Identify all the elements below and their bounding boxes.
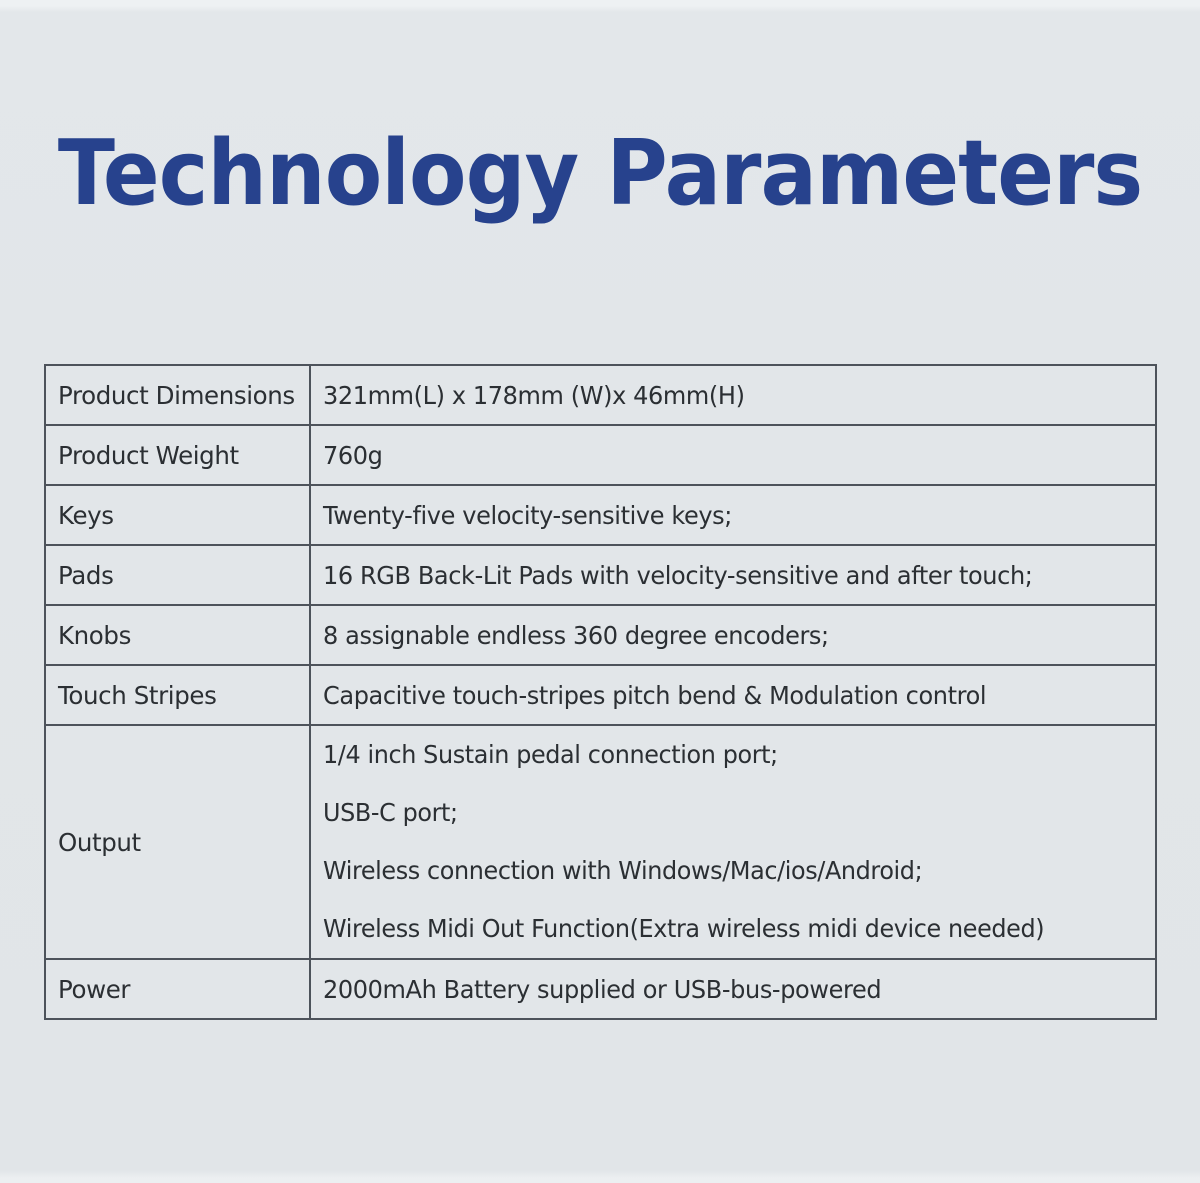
value-text-line: Wireless Midi Out Function(Extra wireles…: [323, 900, 1118, 958]
row-value-product-weight: 760g: [310, 425, 1156, 485]
row-label-pads: Pads: [45, 545, 310, 605]
value-text-line: USB-C port;: [323, 784, 1118, 842]
row-label-product-dimensions: Product Dimensions: [45, 365, 310, 425]
row-label-output: Output: [45, 725, 310, 959]
table-row: Keys Twenty-five velocity-sensitive keys…: [45, 485, 1156, 545]
table-body: Product Dimensions 321mm(L) x 178mm (W)x…: [45, 365, 1156, 1019]
value-text: 2000mAh Battery supplied or USB-bus-powe…: [323, 975, 1122, 1004]
label-text: Power: [58, 975, 304, 1004]
value-text: 16 RGB Back-Lit Pads with velocity-sensi…: [323, 561, 1122, 590]
row-label-keys: Keys: [45, 485, 310, 545]
row-value-keys: Twenty-five velocity-sensitive keys;: [310, 485, 1156, 545]
row-label-touch-stripes: Touch Stripes: [45, 665, 310, 725]
page-title-container: Technology Parameters: [0, 128, 1200, 220]
row-value-product-dimensions: 321mm(L) x 178mm (W)x 46mm(H): [310, 365, 1156, 425]
label-text: Touch Stripes: [58, 681, 304, 710]
row-label-power: Power: [45, 959, 310, 1019]
table-row: Product Weight 760g: [45, 425, 1156, 485]
label-text: Knobs: [58, 621, 304, 650]
value-text: 321mm(L) x 178mm (W)x 46mm(H): [323, 381, 1122, 410]
row-label-knobs: Knobs: [45, 605, 310, 665]
value-text-line: Wireless connection with Windows/Mac/ios…: [323, 842, 1118, 900]
value-text-line: 1/4 inch Sustain pedal connection port;: [323, 726, 1118, 784]
value-text: Twenty-five velocity-sensitive keys;: [323, 501, 1122, 530]
label-text: Product Dimensions: [58, 381, 304, 410]
row-value-pads: 16 RGB Back-Lit Pads with velocity-sensi…: [310, 545, 1156, 605]
table-row: Power 2000mAh Battery supplied or USB-bu…: [45, 959, 1156, 1019]
table-row: Knobs 8 assignable endless 360 degree en…: [45, 605, 1156, 665]
label-text: Output: [58, 828, 304, 857]
value-text: Capacitive touch-stripes pitch bend & Mo…: [323, 681, 1122, 710]
value-text: 760g: [323, 441, 1122, 470]
page-root: Technology Parameters Product Dimensions…: [0, 0, 1200, 1183]
table-row: Product Dimensions 321mm(L) x 178mm (W)x…: [45, 365, 1156, 425]
technology-parameters-table: Product Dimensions 321mm(L) x 178mm (W)x…: [44, 364, 1157, 1020]
label-text: Pads: [58, 561, 304, 590]
row-value-power: 2000mAh Battery supplied or USB-bus-powe…: [310, 959, 1156, 1019]
label-text: Keys: [58, 501, 304, 530]
table-row: Pads 16 RGB Back-Lit Pads with velocity-…: [45, 545, 1156, 605]
value-text: 8 assignable endless 360 degree encoders…: [323, 621, 1122, 650]
row-value-knobs: 8 assignable endless 360 degree encoders…: [310, 605, 1156, 665]
table-row: Output 1/4 inch Sustain pedal connection…: [45, 725, 1156, 959]
page-title: Technology Parameters: [58, 128, 1143, 220]
row-value-touch-stripes: Capacitive touch-stripes pitch bend & Mo…: [310, 665, 1156, 725]
label-text: Product Weight: [58, 441, 304, 470]
table-row: Touch Stripes Capacitive touch-stripes p…: [45, 665, 1156, 725]
row-label-product-weight: Product Weight: [45, 425, 310, 485]
row-value-output: 1/4 inch Sustain pedal connection port; …: [310, 725, 1156, 959]
